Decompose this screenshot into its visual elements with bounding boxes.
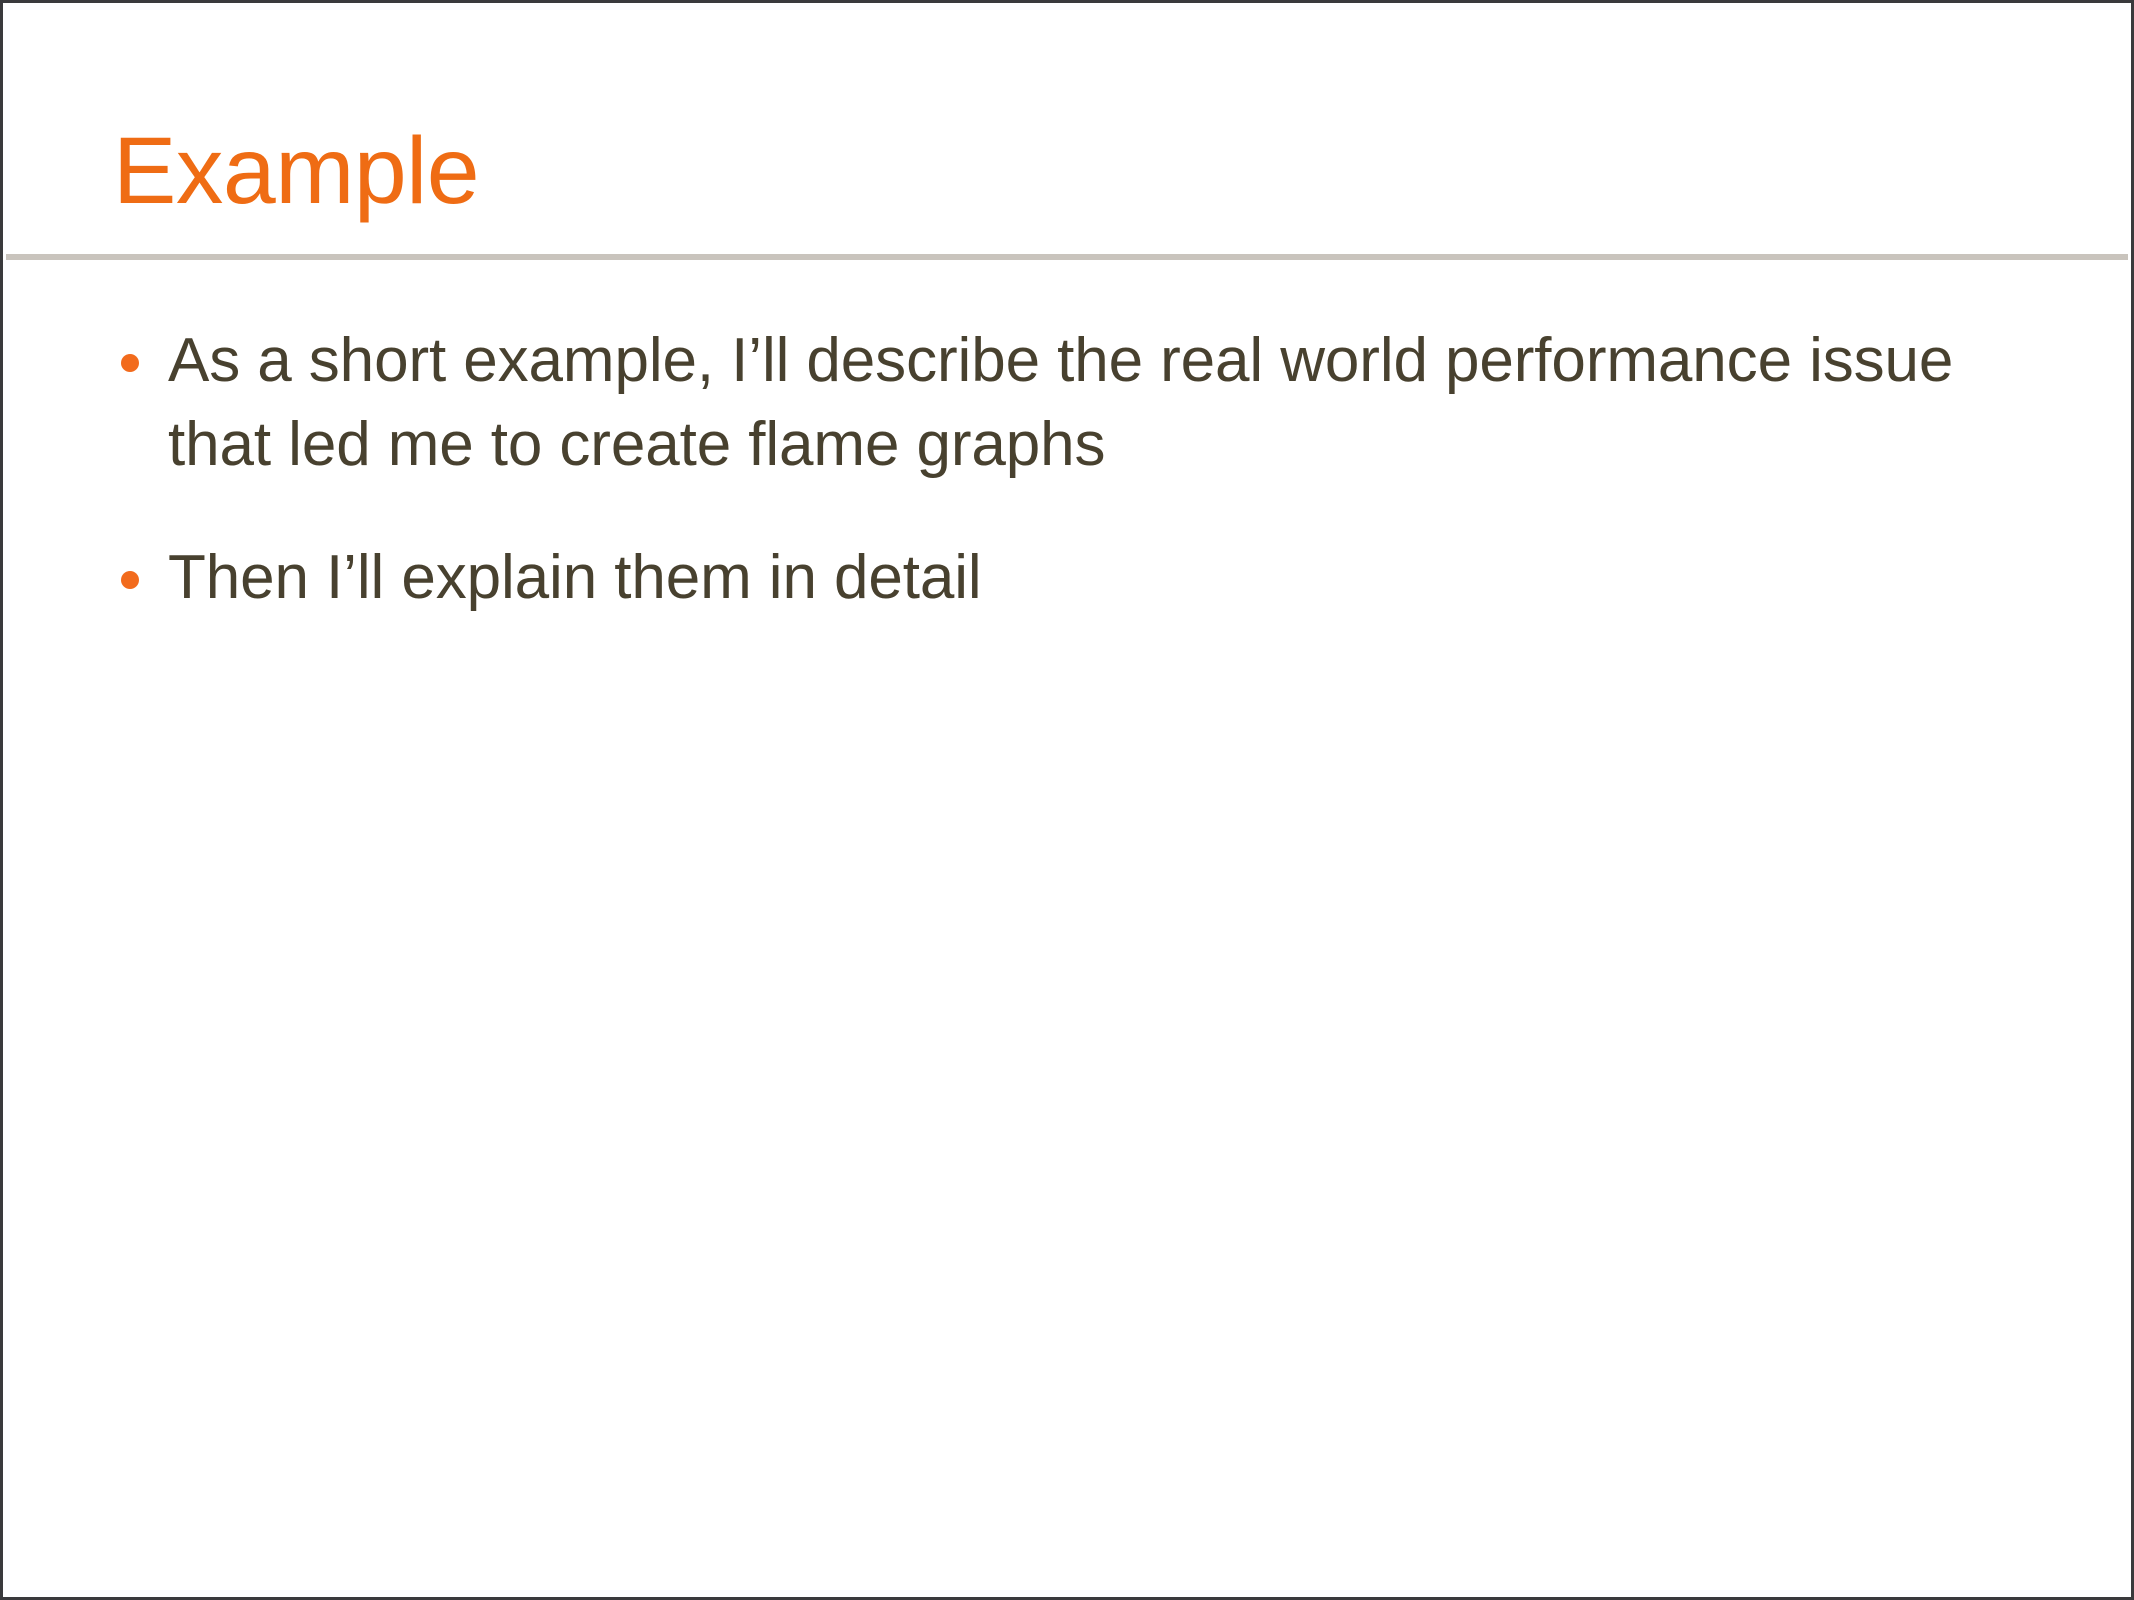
bullet-dot-icon bbox=[111, 536, 168, 620]
bullet-text: As a short example, I’ll describe the re… bbox=[168, 319, 1958, 487]
title-divider bbox=[6, 254, 2128, 260]
list-item: Then I’ll explain them in detail bbox=[111, 536, 1981, 620]
slide-title-block: Example bbox=[113, 121, 2013, 231]
bullet-text: Then I’ll explain them in detail bbox=[168, 536, 1978, 620]
list-item: As a short example, I’ll describe the re… bbox=[111, 319, 1981, 487]
bullet-dot-icon bbox=[111, 319, 168, 403]
page-title: Example bbox=[113, 121, 2013, 221]
presentation-slide: Example As a short example, I’ll describ… bbox=[0, 0, 2134, 1600]
slide-body: As a short example, I’ll describe the re… bbox=[111, 319, 1981, 620]
